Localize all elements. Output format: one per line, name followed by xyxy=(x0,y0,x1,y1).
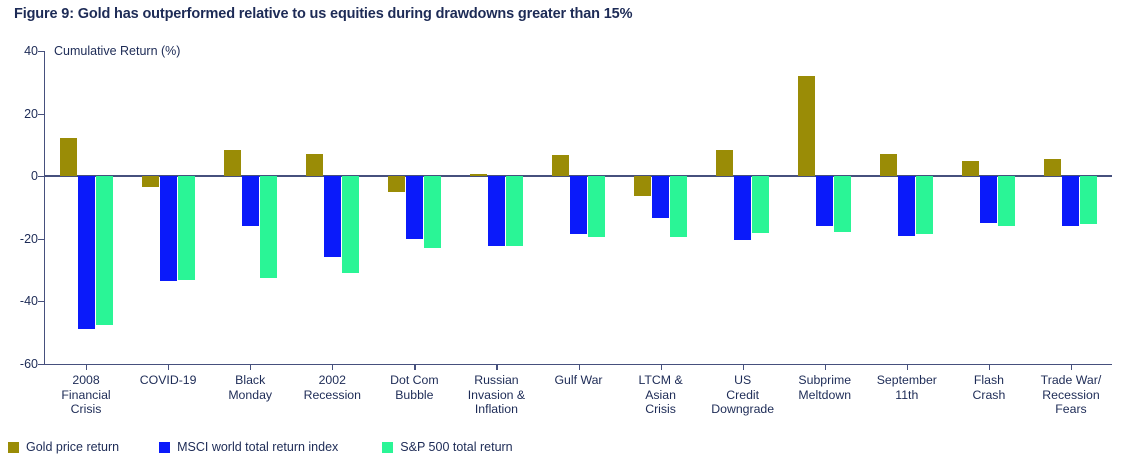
x-axis-category-label-line: Asian xyxy=(620,388,702,403)
x-axis-tick-mark xyxy=(86,364,87,370)
x-axis-category-label-line: Bubble xyxy=(373,388,455,403)
y-axis-tick-label: 20 xyxy=(24,107,38,121)
bar-group xyxy=(702,51,784,364)
bar-group xyxy=(45,51,127,364)
bar-group-bars xyxy=(127,51,209,364)
x-axis-category-label: September11th xyxy=(866,373,948,417)
x-axis-category-label: USCreditDowngrade xyxy=(702,373,784,417)
y-axis-tick-label: -60 xyxy=(20,357,38,371)
bar[interactable] xyxy=(552,155,569,176)
x-axis-tick-mark xyxy=(989,364,990,370)
bar-slot xyxy=(160,51,177,364)
bar-group-bars xyxy=(45,51,127,364)
y-axis-tick-label: 40 xyxy=(24,44,38,58)
x-axis-tick-mark xyxy=(332,364,333,370)
bar-slot xyxy=(552,51,569,364)
y-axis-tick-label: 0 xyxy=(31,169,38,183)
x-axis-tick-mark xyxy=(414,364,415,370)
y-axis-tick-label: -40 xyxy=(20,294,38,308)
bar-slot xyxy=(898,51,915,364)
bar[interactable] xyxy=(60,138,77,176)
bar[interactable] xyxy=(488,176,505,246)
bar[interactable] xyxy=(1080,176,1097,224)
bar-group xyxy=(209,51,291,364)
bar-slot xyxy=(980,51,997,364)
bar-slot xyxy=(96,51,113,364)
bar-slot xyxy=(998,51,1015,364)
bar[interactable] xyxy=(342,176,359,273)
bar-slot xyxy=(60,51,77,364)
bar[interactable] xyxy=(670,176,687,236)
x-axis-category-label-line: Black xyxy=(209,373,291,388)
bar[interactable] xyxy=(1062,176,1079,226)
bar-group-bars xyxy=(866,51,948,364)
x-axis-category-label-line: COVID-19 xyxy=(127,373,209,388)
bar-slot xyxy=(916,51,933,364)
bar-slot xyxy=(634,51,651,364)
bar[interactable] xyxy=(306,154,323,176)
x-axis-category-label-line: Gulf War xyxy=(537,373,619,388)
bar-slot xyxy=(78,51,95,364)
x-axis-category-label: COVID-19 xyxy=(127,373,209,417)
bar-group-bars xyxy=(537,51,619,364)
bar-group-bars xyxy=(948,51,1030,364)
y-axis-tick-mark xyxy=(38,51,45,52)
bar-group xyxy=(948,51,1030,364)
x-axis-tick-mark xyxy=(661,364,662,370)
bar-group xyxy=(127,51,209,364)
x-axis-category-label-line: Invasion & xyxy=(455,388,537,403)
legend-color-swatch-icon xyxy=(8,442,19,453)
x-axis-category-label-line: 11th xyxy=(866,388,948,403)
x-axis-tick-mark xyxy=(168,364,169,370)
legend-item[interactable]: S&P 500 total return xyxy=(382,440,512,454)
bar-slot xyxy=(178,51,195,364)
bar-slot xyxy=(962,51,979,364)
y-axis-tick-labels: 40200-20-40-60 xyxy=(0,0,38,463)
x-axis-category-label-line: Financial xyxy=(45,388,127,403)
x-axis-tick-mark xyxy=(743,364,744,370)
bar[interactable] xyxy=(998,176,1015,226)
x-axis-category-label-line: Subprime xyxy=(784,373,866,388)
bar-slot xyxy=(670,51,687,364)
x-axis-category-label-line: Inflation xyxy=(455,402,537,417)
bar[interactable] xyxy=(798,76,815,176)
x-axis-category-label: FlashCrash xyxy=(948,373,1030,417)
x-axis-tick-mark xyxy=(496,364,497,370)
bar-group-bars xyxy=(702,51,784,364)
bar[interactable] xyxy=(716,150,733,176)
bar-group xyxy=(1030,51,1112,364)
bar-groups xyxy=(45,51,1112,364)
bar[interactable] xyxy=(424,176,441,247)
bar[interactable] xyxy=(588,176,605,236)
x-axis-tick-mark xyxy=(1071,364,1072,370)
legend-label: S&P 500 total return xyxy=(400,440,512,454)
legend-color-swatch-icon xyxy=(159,442,170,453)
bar-slot xyxy=(324,51,341,364)
x-axis-category-label: Gulf War xyxy=(537,373,619,417)
bar-group-bars xyxy=(209,51,291,364)
bar-slot xyxy=(260,51,277,364)
bar[interactable] xyxy=(160,176,177,281)
x-axis-tick-mark xyxy=(250,364,251,370)
bar-slot xyxy=(406,51,423,364)
bar[interactable] xyxy=(178,176,195,280)
bar-slot xyxy=(242,51,259,364)
bar-slot xyxy=(798,51,815,364)
bar[interactable] xyxy=(406,176,423,239)
y-axis-tick-mark xyxy=(38,301,45,302)
legend-label: MSCI world total return index xyxy=(177,440,338,454)
bar-slot xyxy=(488,51,505,364)
bar[interactable] xyxy=(388,176,405,192)
x-axis-tick-mark xyxy=(825,364,826,370)
bar-slot xyxy=(424,51,441,364)
y-axis-tick-mark xyxy=(38,114,45,115)
x-axis-category-label-line: US xyxy=(702,373,784,388)
bar-slot xyxy=(1062,51,1079,364)
x-axis-category-label: 2002Recession xyxy=(291,373,373,417)
chart-legend: Gold price returnMSCI world total return… xyxy=(8,440,513,454)
bar-slot xyxy=(506,51,523,364)
y-axis-tick-mark xyxy=(38,364,45,365)
bar-slot xyxy=(834,51,851,364)
x-axis-category-label: LTCM &AsianCrisis xyxy=(620,373,702,417)
bar-group xyxy=(291,51,373,364)
x-axis-category-label-line: Fears xyxy=(1030,402,1112,417)
bar[interactable] xyxy=(78,176,95,329)
x-axis-category-label-line: Monday xyxy=(209,388,291,403)
bar-slot xyxy=(716,51,733,364)
bar-slot xyxy=(342,51,359,364)
x-axis-category-label-line: Crisis xyxy=(45,402,127,417)
bar-group-bars xyxy=(620,51,702,364)
bar-slot xyxy=(224,51,241,364)
bar-slot xyxy=(306,51,323,364)
bar-group-bars xyxy=(373,51,455,364)
x-axis-category-label-line: LTCM & xyxy=(620,373,702,388)
bar-slot xyxy=(734,51,751,364)
x-axis-category-label-line: Dot Com xyxy=(373,373,455,388)
x-axis-category-label: Dot ComBubble xyxy=(373,373,455,417)
bar-slot xyxy=(588,51,605,364)
bar[interactable] xyxy=(224,150,241,177)
bar[interactable] xyxy=(980,176,997,223)
bar[interactable] xyxy=(916,176,933,234)
bar[interactable] xyxy=(834,176,851,232)
bar-slot xyxy=(1080,51,1097,364)
x-axis-category-label-line: Trade War/ xyxy=(1030,373,1112,388)
page-title: Figure 9: Gold has outperformed relative… xyxy=(14,6,632,22)
bar-group-bars xyxy=(455,51,537,364)
bar-slot xyxy=(1044,51,1061,364)
bar-slot xyxy=(880,51,897,364)
figure-container: Figure 9: Gold has outperformed relative… xyxy=(0,0,1127,463)
x-axis-category-label-line: Credit xyxy=(702,388,784,403)
x-axis-category-labels: 2008FinancialCrisisCOVID-19BlackMonday20… xyxy=(45,373,1112,417)
bar[interactable] xyxy=(898,176,915,236)
bar[interactable] xyxy=(752,176,769,233)
y-axis-tick-mark xyxy=(38,239,45,240)
bar[interactable] xyxy=(470,174,487,176)
bar-slot xyxy=(570,51,587,364)
bar-slot xyxy=(816,51,833,364)
legend-label: Gold price return xyxy=(26,440,119,454)
bar[interactable] xyxy=(506,176,523,246)
bar-group xyxy=(784,51,866,364)
x-axis-category-label-line: Recession xyxy=(1030,388,1112,403)
x-axis-category-label-line: September xyxy=(866,373,948,388)
x-axis-category-label-line: Flash xyxy=(948,373,1030,388)
x-axis-tick-mark xyxy=(907,364,908,370)
bar[interactable] xyxy=(734,176,751,240)
bar[interactable] xyxy=(570,176,587,234)
bar-slot xyxy=(652,51,669,364)
bar-group xyxy=(537,51,619,364)
bar[interactable] xyxy=(816,176,833,226)
bar-group xyxy=(866,51,948,364)
bar-group xyxy=(620,51,702,364)
x-axis-category-label-line: Meltdown xyxy=(784,388,866,403)
x-axis-category-label-line: Crisis xyxy=(620,402,702,417)
bar[interactable] xyxy=(142,176,159,187)
bar-slot xyxy=(388,51,405,364)
legend-item[interactable]: Gold price return xyxy=(8,440,119,454)
x-axis-category-label-line: Crash xyxy=(948,388,1030,403)
bar-group-bars xyxy=(784,51,866,364)
bar-group-bars xyxy=(1030,51,1112,364)
x-axis-category-label: 2008FinancialCrisis xyxy=(45,373,127,417)
x-axis-category-label: RussianInvasion &Inflation xyxy=(455,373,537,417)
x-axis-category-label-line: Recession xyxy=(291,388,373,403)
legend-color-swatch-icon xyxy=(382,442,393,453)
x-axis-category-label: Trade War/RecessionFears xyxy=(1030,373,1112,417)
bar[interactable] xyxy=(652,176,669,218)
bar[interactable] xyxy=(1044,159,1061,177)
x-axis-category-label: BlackMonday xyxy=(209,373,291,417)
x-axis-category-label-line: 2002 xyxy=(291,373,373,388)
y-axis-tick-mark xyxy=(38,176,45,177)
x-axis-category-label-line: 2008 xyxy=(45,373,127,388)
bar[interactable] xyxy=(324,176,341,256)
bar[interactable] xyxy=(96,176,113,325)
bar[interactable] xyxy=(880,154,897,176)
bar-slot xyxy=(470,51,487,364)
bar[interactable] xyxy=(634,176,651,196)
x-axis-tick-mark xyxy=(579,364,580,370)
bar-slot xyxy=(752,51,769,364)
bar[interactable] xyxy=(962,161,979,176)
bar-group xyxy=(373,51,455,364)
y-axis-tick-label: -20 xyxy=(20,232,38,246)
x-axis-category-label-line: Russian xyxy=(455,373,537,388)
bar-group-bars xyxy=(291,51,373,364)
x-axis-category-label: SubprimeMeltdown xyxy=(784,373,866,417)
bar[interactable] xyxy=(242,176,259,226)
x-axis-category-label-line: Downgrade xyxy=(702,402,784,417)
bar[interactable] xyxy=(260,176,277,277)
bar-slot xyxy=(142,51,159,364)
bar-group xyxy=(455,51,537,364)
legend-item[interactable]: MSCI world total return index xyxy=(159,440,338,454)
